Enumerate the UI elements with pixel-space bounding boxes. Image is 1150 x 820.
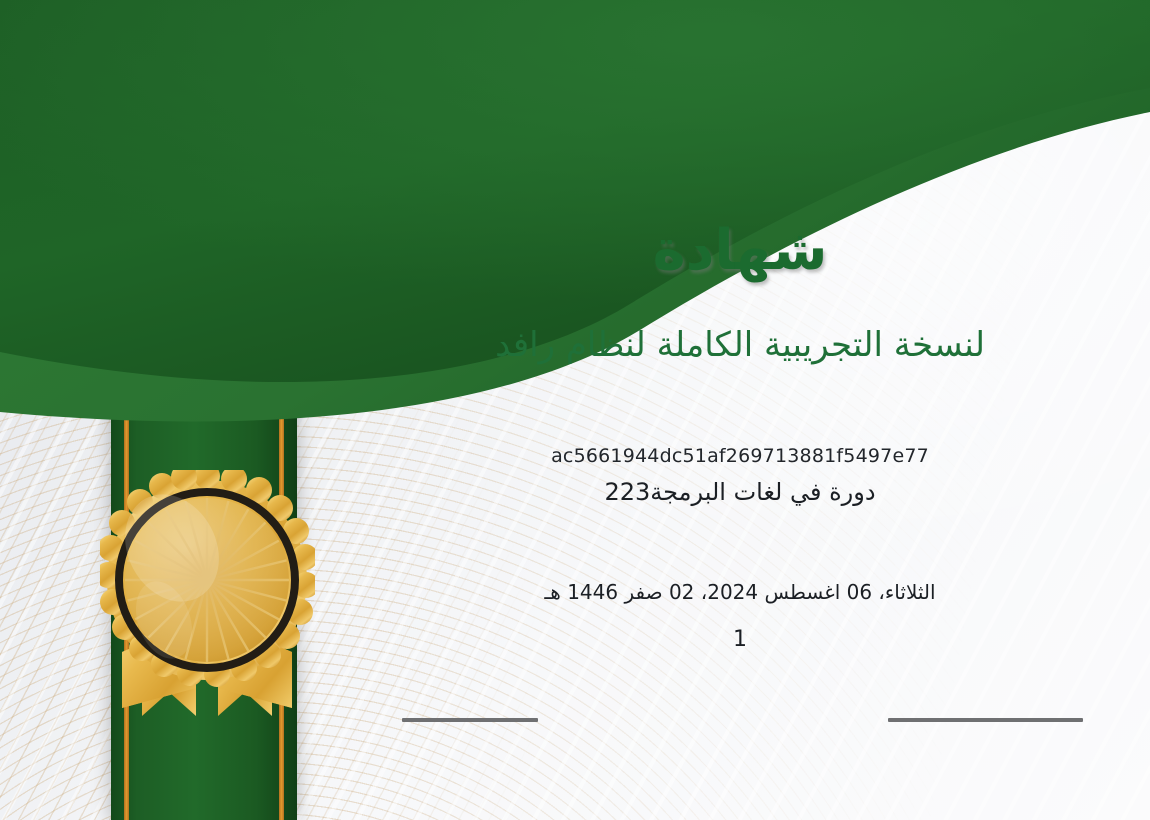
certificate-hash: ac5661944dc51af269713881f5497e77 [330, 445, 1150, 467]
page-number: 1 [330, 627, 1150, 652]
certificate-content: شهادة لنسخة التجريبية الكاملة لنظام رافد… [330, 0, 1150, 820]
course-name: دورة في لغات البرمجة223 [330, 478, 1150, 506]
issue-date: الثلاثاء، 06 اغسطس 2024، 02 صفر 1446 هـ [330, 580, 1150, 604]
signature-line-right [888, 718, 1083, 722]
certificate-page: شهادة لنسخة التجريبية الكاملة لنظام رافد… [0, 0, 1150, 820]
certificate-subtitle: لنسخة التجريبية الكاملة لنظام رافد [330, 325, 1150, 365]
gold-award-medal-icon [100, 470, 315, 750]
signature-line-left [402, 718, 538, 722]
certificate-title: شهادة [330, 218, 1150, 283]
